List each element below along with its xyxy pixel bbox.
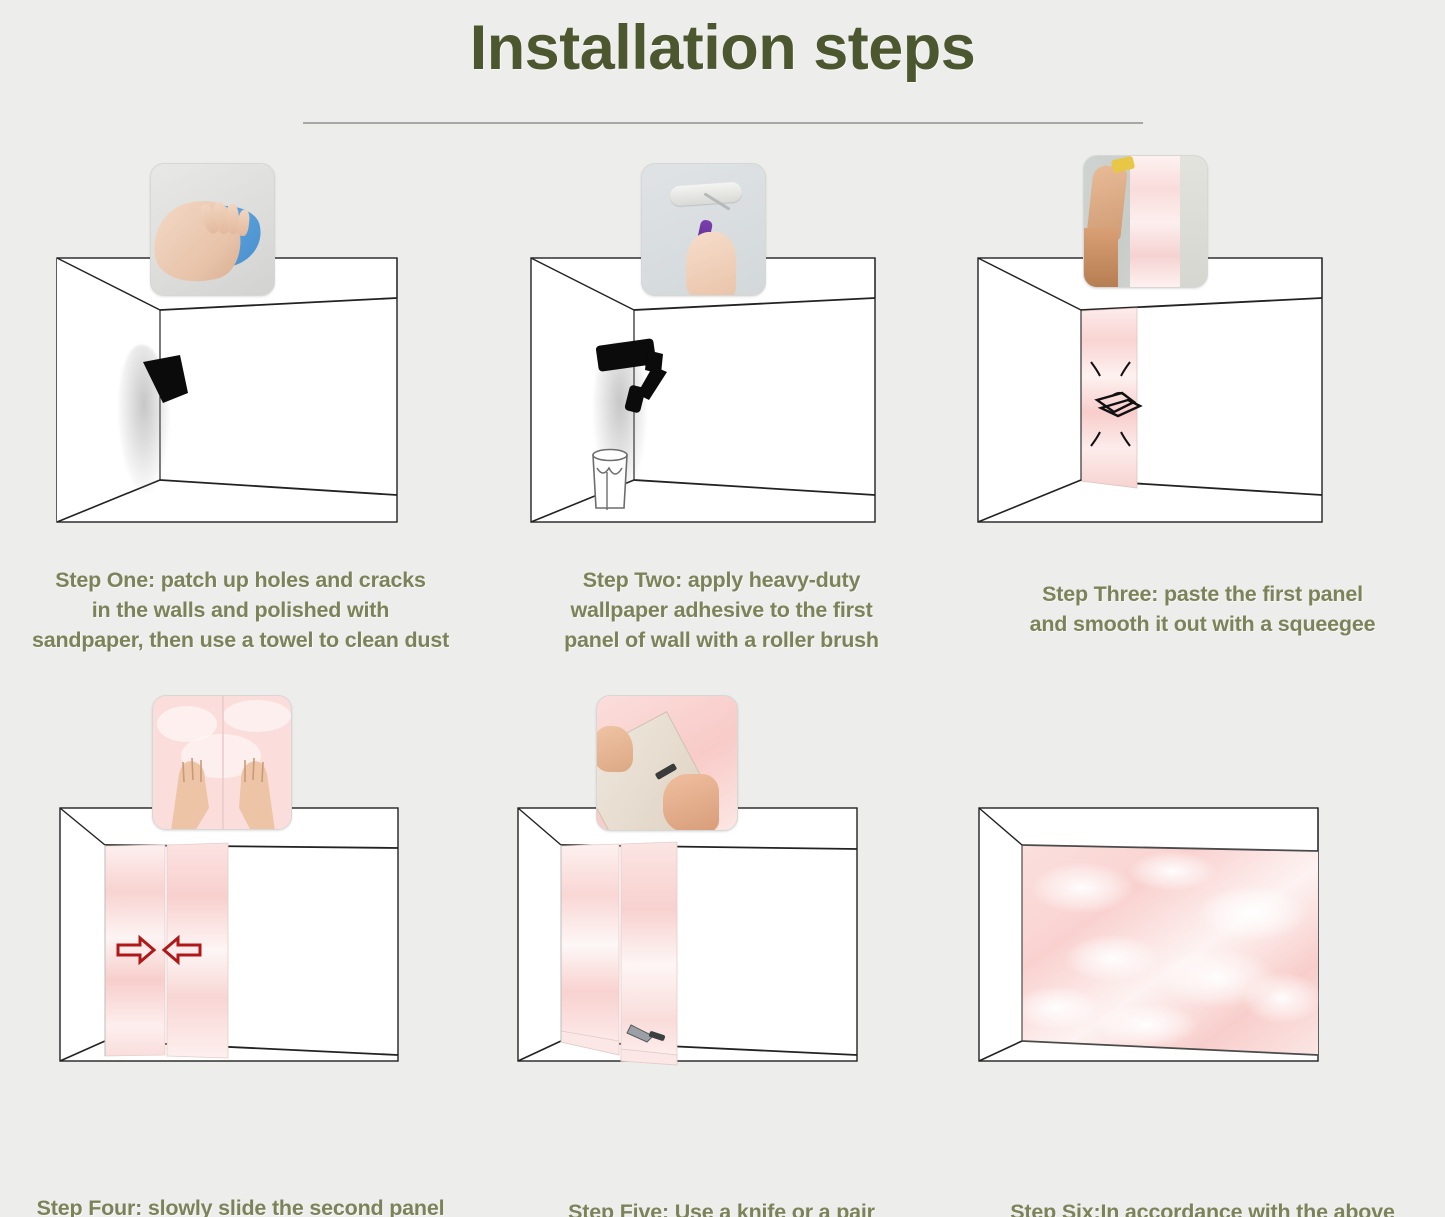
step-one-figure bbox=[0, 150, 481, 565]
page-title: Installation steps bbox=[0, 8, 1445, 88]
step-cell-five: Step Five: Use a knife or a pair of scis… bbox=[481, 793, 962, 1217]
two-hands-smoothing-panels-photo bbox=[152, 695, 292, 830]
step-six-caption: Step Six:In accordance with the above st… bbox=[962, 1197, 1443, 1217]
step-two-figure bbox=[481, 150, 962, 565]
title-divider bbox=[303, 122, 1143, 124]
step-six-figure bbox=[962, 793, 1443, 1193]
step-four-figure bbox=[0, 793, 481, 1193]
step-three-figure bbox=[962, 150, 1443, 565]
step-two-caption: Step Two: apply heavy-duty wallpaper adh… bbox=[481, 565, 962, 655]
hands-illustration bbox=[153, 696, 292, 830]
step-cell-four: Step Four: slowly slide the second panel… bbox=[0, 793, 481, 1217]
installation-steps-infographic: Installation steps bbox=[0, 0, 1445, 1217]
step-five-caption: Step Five: Use a knife or a pair of scis… bbox=[481, 1197, 962, 1217]
step-five-figure bbox=[481, 793, 962, 1193]
step-one-caption: Step One: patch up holes and cracks in t… bbox=[0, 565, 481, 655]
step-four-caption: Step Four: slowly slide the second panel… bbox=[0, 1193, 481, 1217]
knife-icon bbox=[481, 793, 962, 1183]
step-three-caption: Step Three: paste the first panel and sm… bbox=[962, 579, 1443, 639]
step-cell-one: Step One: patch up holes and cracks in t… bbox=[0, 150, 481, 655]
steps-grid: Step One: patch up holes and cracks in t… bbox=[0, 150, 1445, 1217]
hand-holding-paint-roller-photo bbox=[641, 163, 766, 296]
step-cell-three: Step Three: paste the first panel and sm… bbox=[962, 150, 1443, 655]
step-cell-two: Step Two: apply heavy-duty wallpaper adh… bbox=[481, 150, 962, 655]
knife-cutting-wallpaper-photo bbox=[596, 695, 738, 831]
steps-row-bottom: Step Four: slowly slide the second panel… bbox=[0, 793, 1445, 1217]
hand-wiping-wall-with-blue-cloth-photo bbox=[150, 163, 275, 296]
step-cell-six: Step Six:In accordance with the above st… bbox=[962, 793, 1443, 1217]
arrow-left-icon bbox=[0, 793, 481, 1183]
room-perspective-box-six bbox=[962, 793, 1443, 1183]
person-applying-pink-panel-photo bbox=[1083, 155, 1208, 288]
steps-row-top: Step One: patch up holes and cracks in t… bbox=[0, 150, 1445, 655]
